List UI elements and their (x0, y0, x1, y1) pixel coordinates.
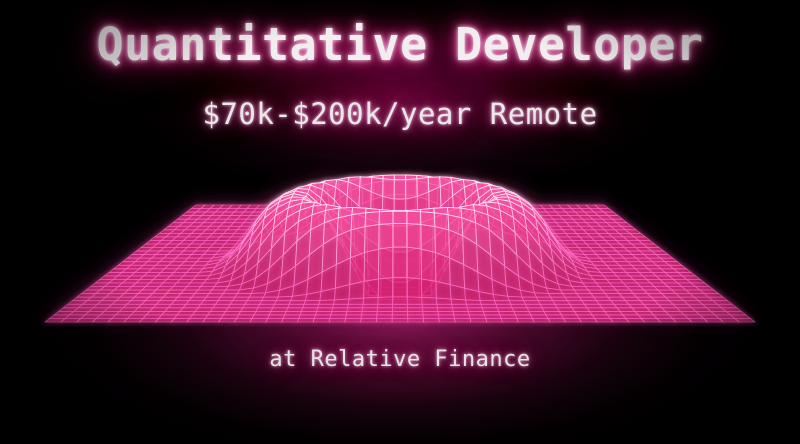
job-poster: Quantitative Developer $70k-$200k/year R… (0, 0, 800, 444)
page-title: Quantitative Developer (0, 18, 800, 71)
company-name: at Relative Finance (0, 347, 800, 372)
salary-and-location: $70k-$200k/year Remote (0, 97, 800, 131)
text-layer: Quantitative Developer $70k-$200k/year R… (0, 0, 800, 444)
